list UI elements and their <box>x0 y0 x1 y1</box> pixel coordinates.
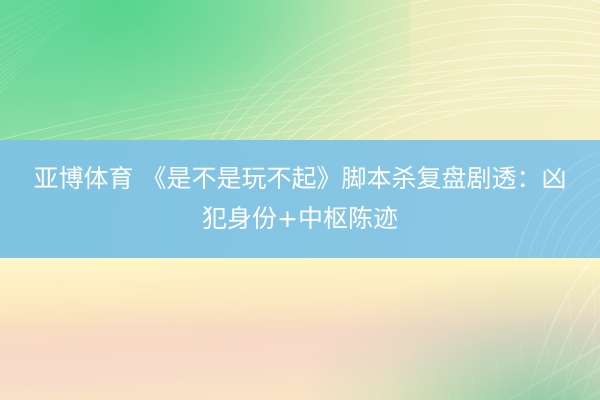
bottom-gradient-area <box>0 258 600 400</box>
top-gradient-area <box>0 0 600 140</box>
banner-title-line-2: 犯身份+中枢陈迹 <box>202 204 398 233</box>
bottom-arc-pattern <box>0 258 600 400</box>
banner-image: 亚博体育 《是不是玩不起》脚本杀复盘剧透：凶 犯身份+中枢陈迹 <box>0 0 600 400</box>
banner-title-line-1: 亚博体育 《是不是玩不起》脚本杀复盘剧透：凶 <box>34 164 567 193</box>
title-banner: 亚博体育 《是不是玩不起》脚本杀复盘剧透：凶 犯身份+中枢陈迹 <box>0 140 600 258</box>
top-arc-pattern <box>0 0 600 140</box>
banner-title: 亚博体育 《是不是玩不起》脚本杀复盘剧透：凶 犯身份+中枢陈迹 <box>12 159 588 239</box>
